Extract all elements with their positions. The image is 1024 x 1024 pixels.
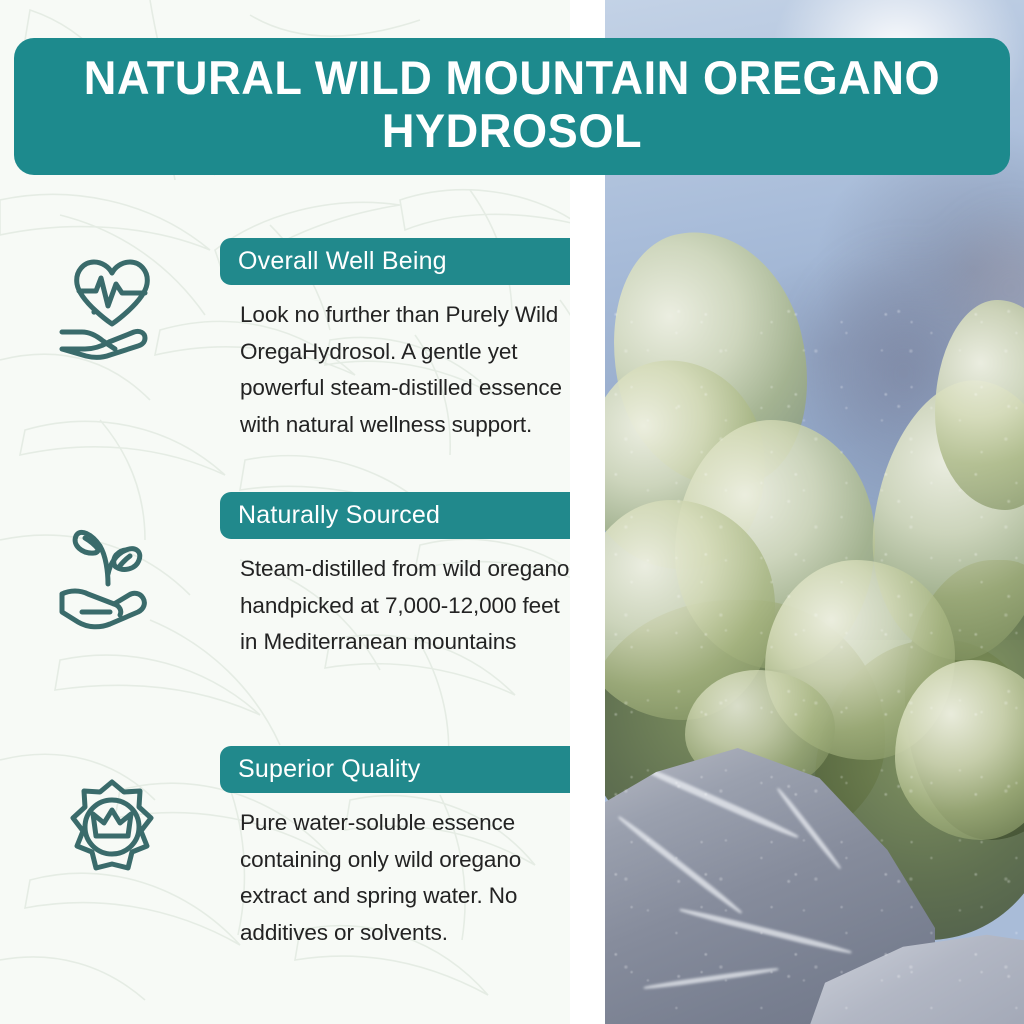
feature-content: Naturally Sourced Steam-distilled from w… [220, 492, 570, 661]
feature-list: Overall Well Being Look no further than … [0, 238, 600, 992]
feature-content: Superior Quality Pure water-soluble esse… [220, 746, 570, 952]
title-banner: NATURAL WILD MOUNTAIN OREGANO HYDROSOL [14, 38, 1010, 175]
feature-label-bar: Superior Quality [220, 746, 570, 793]
feature-label-text: Overall Well Being [238, 247, 447, 276]
feature-row-overall-well-being: Overall Well Being Look no further than … [0, 238, 600, 486]
feature-content: Overall Well Being Look no further than … [220, 238, 570, 444]
page-title: NATURAL WILD MOUNTAIN OREGANO HYDROSOL [55, 52, 969, 157]
feature-label-bar: Naturally Sourced [220, 492, 570, 539]
crown-badge-icon [52, 774, 172, 894]
feature-label-bar: Overall Well Being [220, 238, 570, 285]
feature-label-text: Naturally Sourced [238, 501, 440, 530]
feature-description: Look no further than Purely Wild OregaHy… [220, 285, 570, 444]
feature-description: Steam-distilled from wild oregano handpi… [220, 539, 570, 661]
infographic-canvas: NATURAL WILD MOUNTAIN OREGANO HYDROSOL O… [0, 0, 1024, 1024]
feature-label-text: Superior Quality [238, 755, 420, 784]
sprout-in-hand-icon [52, 512, 172, 632]
feature-description: Pure water-soluble essence containing on… [220, 793, 570, 952]
feature-row-naturally-sourced: Naturally Sourced Steam-distilled from w… [0, 492, 600, 740]
heart-pulse-in-hand-icon [52, 246, 172, 366]
feature-row-superior-quality: Superior Quality Pure water-soluble esse… [0, 746, 600, 986]
